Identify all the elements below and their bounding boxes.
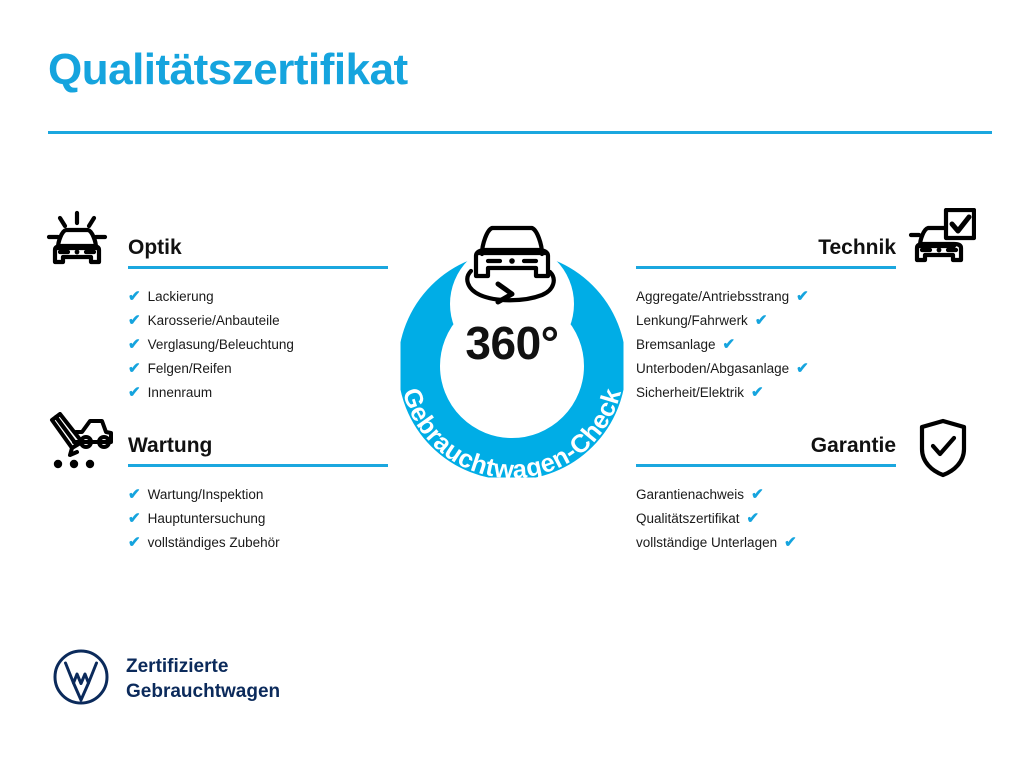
check-icon: ✔ — [723, 337, 736, 352]
check-icon: ✔ — [128, 487, 141, 502]
certificate-page: Qualitätszertifikat — [0, 0, 1024, 768]
check-icon: ✔ — [751, 487, 764, 502]
footer-line-1: Zertifizierte — [126, 655, 280, 679]
check-icon: ✔ — [128, 337, 141, 352]
list-item-label: Verglasung/Beleuchtung — [148, 333, 294, 357]
list-item-label: Garantienachweis — [636, 483, 744, 507]
section-technik: Technik ✔Aggregate/Antriebsstrang ✔Lenku… — [636, 236, 896, 405]
check-icon: ✔ — [128, 289, 141, 304]
vw-footer-lockup: Zertifizierte Gebrauchtwagen — [52, 648, 280, 711]
section-divider-garantie — [636, 464, 896, 467]
section-divider-wartung — [128, 464, 388, 467]
badge-center-label: 360° — [372, 316, 652, 370]
list-item: ✔Lackierung — [128, 285, 388, 309]
check-icon: ✔ — [128, 385, 141, 400]
section-divider-technik — [636, 266, 896, 269]
check-icon: ✔ — [747, 511, 760, 526]
list-item: ✔Unterboden/Abgasanlage — [636, 357, 896, 381]
section-garantie: Garantie ✔Garantienachweis ✔Qualitätszer… — [636, 434, 896, 555]
list-item: ✔Garantienachweis — [636, 483, 896, 507]
check-icon: ✔ — [128, 361, 141, 376]
title-divider — [48, 131, 992, 134]
footer-text: Zertifizierte Gebrauchtwagen — [126, 655, 280, 704]
list-item: ✔Hauptuntersuchung — [128, 507, 388, 531]
vw-roundel-logo — [52, 648, 110, 711]
checklist-wartung: ✔Wartung/Inspektion ✔Hauptuntersuchung ✔… — [128, 483, 388, 555]
list-item: ✔Sicherheit/Elektrik — [636, 381, 896, 405]
checklist-technik: ✔Aggregate/Antriebsstrang ✔Lenkung/Fahrw… — [636, 285, 896, 405]
check-icon: ✔ — [128, 511, 141, 526]
checklist-garantie: ✔Garantienachweis ✔Qualitätszertifikat ✔… — [636, 483, 896, 555]
list-item-label: vollständige Unterlagen — [636, 531, 777, 555]
section-heading-wartung: Wartung — [128, 434, 388, 458]
section-divider-optik — [128, 266, 388, 269]
car-front-shine-icon — [46, 210, 108, 277]
list-item: ✔Lenkung/Fahrwerk — [636, 309, 896, 333]
list-item: ✔Bremsanlage — [636, 333, 896, 357]
section-heading-optik: Optik — [128, 236, 388, 260]
list-item: ✔Wartung/Inspektion — [128, 483, 388, 507]
service-book-pencil-car-icon — [46, 412, 116, 477]
list-item-label: Lenkung/Fahrwerk — [636, 309, 748, 333]
car-front-checkbox-icon — [908, 208, 976, 275]
badge-360-gebrauchtwagen-check: Gebrauchtwagen-Check 360° — [372, 196, 652, 486]
list-item-label: Lackierung — [148, 285, 214, 309]
list-item: ✔Felgen/Reifen — [128, 357, 388, 381]
section-heading-garantie: Garantie — [636, 434, 896, 458]
list-item: ✔Qualitätszertifikat — [636, 507, 896, 531]
list-item-label: Aggregate/Antriebsstrang — [636, 285, 789, 309]
list-item: ✔Aggregate/Antriebsstrang — [636, 285, 896, 309]
list-item: ✔vollständige Unterlagen — [636, 531, 896, 555]
list-item-label: Wartung/Inspektion — [148, 483, 264, 507]
check-icon: ✔ — [128, 313, 141, 328]
section-wartung: Wartung ✔Wartung/Inspektion ✔Hauptunters… — [128, 434, 388, 555]
footer-line-2: Gebrauchtwagen — [126, 680, 280, 704]
list-item: ✔Karosserie/Anbauteile — [128, 309, 388, 333]
list-item-label: Innenraum — [148, 381, 213, 405]
check-icon: ✔ — [796, 289, 809, 304]
check-icon: ✔ — [128, 535, 141, 550]
check-icon: ✔ — [751, 385, 764, 400]
shield-check-icon — [916, 418, 970, 483]
list-item-label: vollständiges Zubehör — [148, 531, 280, 555]
section-optik: Optik ✔Lackierung ✔Karosserie/Anbauteile… — [128, 236, 388, 405]
list-item-label: Sicherheit/Elektrik — [636, 381, 744, 405]
list-item-label: Karosserie/Anbauteile — [148, 309, 280, 333]
check-icon: ✔ — [796, 361, 809, 376]
list-item: ✔Verglasung/Beleuchtung — [128, 333, 388, 357]
list-item-label: Unterboden/Abgasanlage — [636, 357, 789, 381]
list-item: ✔vollständiges Zubehör — [128, 531, 388, 555]
check-icon: ✔ — [755, 313, 768, 328]
list-item-label: Felgen/Reifen — [148, 357, 232, 381]
list-item-label: Hauptuntersuchung — [148, 507, 266, 531]
list-item-label: Qualitätszertifikat — [636, 507, 740, 531]
page-title: Qualitätszertifikat — [48, 46, 408, 94]
section-heading-technik: Technik — [636, 236, 896, 260]
checklist-optik: ✔Lackierung ✔Karosserie/Anbauteile ✔Verg… — [128, 285, 388, 405]
check-icon: ✔ — [784, 535, 797, 550]
list-item: ✔Innenraum — [128, 381, 388, 405]
